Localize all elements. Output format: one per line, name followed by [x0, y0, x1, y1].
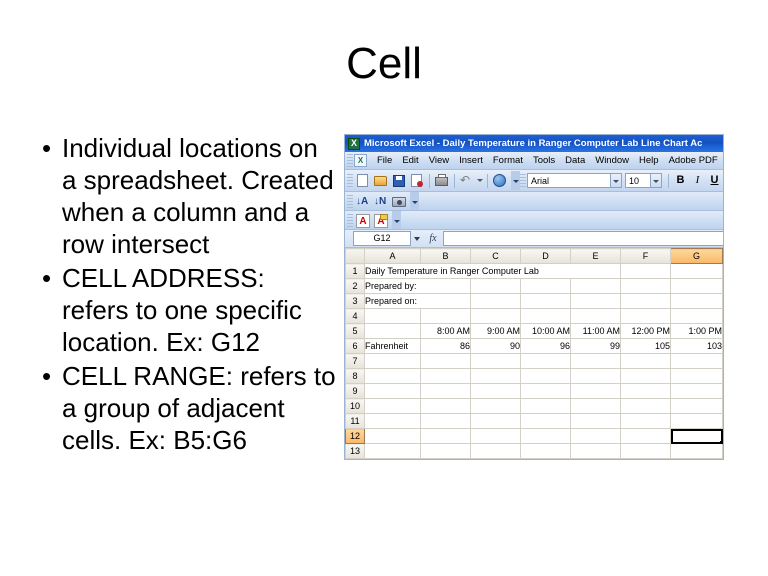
cell-c2[interactable] [471, 279, 521, 294]
menu-item-insert[interactable]: Insert [454, 154, 488, 167]
column-header-g[interactable]: G [671, 249, 723, 264]
cell-f8[interactable] [621, 369, 671, 384]
cell-d2[interactable] [521, 279, 571, 294]
underline-button[interactable]: U [706, 172, 723, 189]
cell-a9[interactable] [365, 384, 421, 399]
column-header-row: A B C D E F G [346, 249, 723, 264]
cell-d6[interactable]: 96 [521, 339, 571, 354]
bullet-list: • Individual locations on a spreadsheet.… [38, 132, 338, 458]
excel-window-screenshot: Microsoft Excel - Daily Temperature in R… [344, 134, 724, 460]
cell-b13[interactable] [421, 444, 471, 459]
undo-dropdown-icon[interactable] [476, 172, 483, 189]
formula-input[interactable] [443, 231, 723, 246]
italic-button[interactable]: I [689, 172, 706, 189]
cell-b8[interactable] [421, 369, 471, 384]
table-row: 1 Daily Temperature in Ranger Computer L… [346, 264, 723, 279]
bullet-marker-icon: • [38, 360, 62, 392]
row-header-14[interactable]: 14 [346, 459, 365, 461]
cell-c8[interactable] [471, 369, 521, 384]
cell-e14[interactable] [571, 459, 621, 461]
cell-a10[interactable] [365, 399, 421, 414]
menu-bar: File Edit View Insert Format Tools Data … [345, 152, 723, 170]
toolbar-grip-handle[interactable] [347, 195, 353, 208]
cell-b5[interactable]: 8:00 AM [421, 324, 471, 339]
table-row: 3 Prepared on: [346, 294, 723, 309]
cell-b6[interactable]: 86 [421, 339, 471, 354]
table-row: 13 [346, 444, 723, 459]
cell-d8[interactable] [521, 369, 571, 384]
cell-c13[interactable] [471, 444, 521, 459]
column-header-f[interactable]: F [621, 249, 671, 264]
name-box-dropdown-icon[interactable] [411, 231, 423, 246]
cell-e7[interactable] [571, 354, 621, 369]
row-header-2[interactable]: 2 [346, 279, 365, 294]
cell-c6[interactable]: 90 [471, 339, 521, 354]
cell-e3[interactable] [571, 294, 621, 309]
cell-a6[interactable]: Fahrenheit [365, 339, 421, 354]
save-icon[interactable] [390, 172, 407, 189]
cell-c10[interactable] [471, 399, 521, 414]
menu-item-file[interactable]: File [372, 154, 397, 167]
row-header-10[interactable]: 10 [346, 399, 365, 414]
cell-a14[interactable] [365, 459, 421, 461]
column-header-a[interactable]: A [365, 249, 421, 264]
cell-d11[interactable] [521, 414, 571, 429]
cell-e8[interactable] [571, 369, 621, 384]
cell-d5[interactable]: 10:00 AM [521, 324, 571, 339]
cell-g10[interactable] [671, 399, 723, 414]
page-title: Cell [0, 40, 768, 88]
table-row: 9 [346, 384, 723, 399]
cell-b10[interactable] [421, 399, 471, 414]
bold-button[interactable]: B [672, 172, 689, 189]
table-row: 12 [346, 429, 723, 444]
cell-f10[interactable] [621, 399, 671, 414]
cell-g8[interactable] [671, 369, 723, 384]
document-control-icon[interactable] [354, 154, 367, 167]
select-all-corner[interactable] [346, 249, 365, 264]
cell-g13[interactable] [671, 444, 723, 459]
cell-g1[interactable] [671, 264, 723, 279]
list-item: • CELL ADDRESS: refers to one specific l… [38, 262, 338, 358]
menu-item-data[interactable]: Data [560, 154, 590, 167]
cell-f12[interactable] [621, 429, 671, 444]
table-row: 11 [346, 414, 723, 429]
help-icon[interactable] [491, 172, 508, 189]
toolbar-grip-handle[interactable] [347, 214, 353, 227]
cell-a1[interactable]: Daily Temperature in Ranger Computer Lab [365, 264, 621, 279]
cell-g12-selected[interactable] [671, 429, 723, 444]
row-header-7[interactable]: 7 [346, 354, 365, 369]
font-size-dropdown-icon[interactable] [651, 173, 662, 188]
cell-b4[interactable] [421, 309, 471, 324]
cell-g11[interactable] [671, 414, 723, 429]
toolbar-overflow-icon[interactable] [410, 192, 419, 211]
cell-e13[interactable] [571, 444, 621, 459]
new-icon[interactable] [354, 172, 371, 189]
menu-item-format[interactable]: Format [488, 154, 528, 167]
bullet-marker-icon: • [38, 132, 62, 164]
cell-g9[interactable] [671, 384, 723, 399]
cell-d12[interactable] [521, 429, 571, 444]
toolbar-separator [429, 174, 430, 188]
row-header-5[interactable]: 5 [346, 324, 365, 339]
cell-b7[interactable] [421, 354, 471, 369]
cell-a5[interactable] [365, 324, 421, 339]
column-header-e[interactable]: E [571, 249, 621, 264]
row-header-9[interactable]: 9 [346, 384, 365, 399]
cell-e12[interactable] [571, 429, 621, 444]
extra-toolbar-row-2 [345, 211, 723, 230]
cell-f11[interactable] [621, 414, 671, 429]
cell-f13[interactable] [621, 444, 671, 459]
list-item: • CELL RANGE: refers to a group of adjac… [38, 360, 338, 456]
cell-g14[interactable] [671, 459, 723, 461]
toolbar-grip-handle[interactable] [520, 174, 526, 187]
convert-to-pdf-icon[interactable] [354, 212, 371, 229]
toolbar-overflow-icon[interactable] [392, 211, 401, 230]
camera-icon[interactable] [390, 193, 407, 210]
menu-item-edit[interactable]: Edit [397, 154, 423, 167]
cell-d13[interactable] [521, 444, 571, 459]
cell-a8[interactable] [365, 369, 421, 384]
table-row: 10 [346, 399, 723, 414]
row-header-4[interactable]: 4 [346, 309, 365, 324]
standard-toolbar: ↶ Arial 10 B I U [345, 170, 723, 192]
cell-d9[interactable] [521, 384, 571, 399]
pdf-and-email-icon[interactable] [372, 212, 389, 229]
cell-e11[interactable] [571, 414, 621, 429]
cell-b14[interactable] [421, 459, 471, 461]
row-header-12[interactable]: 12 [346, 429, 365, 444]
cell-d7[interactable] [521, 354, 571, 369]
table-row: 6 Fahrenheit 86 90 96 99 105 103 [346, 339, 723, 354]
cell-f14[interactable] [621, 459, 671, 461]
cell-a4[interactable] [365, 309, 421, 324]
cell-e2[interactable] [571, 279, 621, 294]
toolbar-separator [454, 174, 455, 188]
cell-c7[interactable] [471, 354, 521, 369]
cell-d4[interactable] [521, 309, 571, 324]
cell-f3[interactable] [621, 294, 671, 309]
font-name-dropdown-icon[interactable] [611, 173, 622, 188]
table-row: 5 8:00 AM 9:00 AM 10:00 AM 11:00 AM 12:0… [346, 324, 723, 339]
table-row: 2 Prepared by: [346, 279, 723, 294]
menu-item-window[interactable]: Window [590, 154, 634, 167]
bullet-text: Individual locations on a spreadsheet. C… [62, 132, 338, 260]
toolbar-separator [668, 174, 669, 188]
cell-a11[interactable] [365, 414, 421, 429]
bullet-text: CELL RANGE: refers to a group of adjacen… [62, 360, 338, 456]
column-header-d[interactable]: D [521, 249, 571, 264]
cell-f4[interactable] [621, 309, 671, 324]
cell-a13[interactable] [365, 444, 421, 459]
window-title: Microsoft Excel - Daily Temperature in R… [364, 138, 702, 149]
extra-toolbar-row-1: ↓A ↓N [345, 192, 723, 211]
undo-icon[interactable]: ↶ [458, 172, 475, 189]
table-row: 4 [346, 309, 723, 324]
cell-f1[interactable] [621, 264, 671, 279]
cell-f6[interactable]: 105 [621, 339, 671, 354]
cell-g7[interactable] [671, 354, 723, 369]
table-row: 7 [346, 354, 723, 369]
list-item: • Individual locations on a spreadsheet.… [38, 132, 338, 260]
cell-e5[interactable]: 11:00 AM [571, 324, 621, 339]
toolbar-grip-handle[interactable] [347, 174, 353, 187]
cell-d3[interactable] [521, 294, 571, 309]
font-size-input[interactable]: 10 [625, 173, 651, 188]
excel-app-icon [348, 138, 360, 150]
worksheet-grid: A B C D E F G 1 Daily Temperature in Ran… [345, 248, 723, 460]
insert-function-icon[interactable]: fx [423, 233, 443, 244]
menu-item-help[interactable]: Help [634, 154, 664, 167]
cell-c11[interactable] [471, 414, 521, 429]
row-header-6[interactable]: 6 [346, 339, 365, 354]
cell-g6[interactable]: 103 [671, 339, 723, 354]
cell-c12[interactable] [471, 429, 521, 444]
cell-c14[interactable] [471, 459, 521, 461]
table-row: 14 [346, 459, 723, 461]
cell-a3[interactable]: Prepared on: [365, 294, 471, 309]
menu-item-adobe-pdf[interactable]: Adobe PDF [664, 154, 723, 167]
print-icon[interactable] [433, 172, 450, 189]
cell-c5[interactable]: 9:00 AM [471, 324, 521, 339]
cell-f9[interactable] [621, 384, 671, 399]
cell-f5[interactable]: 12:00 PM [621, 324, 671, 339]
cell-g2[interactable] [671, 279, 723, 294]
cell-a12[interactable] [365, 429, 421, 444]
cell-g3[interactable] [671, 294, 723, 309]
toolbar-separator [487, 174, 488, 188]
cell-b12[interactable] [421, 429, 471, 444]
cell-c3[interactable] [471, 294, 521, 309]
row-header-13[interactable]: 13 [346, 444, 365, 459]
cell-c9[interactable] [471, 384, 521, 399]
row-header-3[interactable]: 3 [346, 294, 365, 309]
cell-e9[interactable] [571, 384, 621, 399]
row-header-8[interactable]: 8 [346, 369, 365, 384]
sort-descending-icon[interactable]: ↓N [372, 193, 389, 210]
bullet-marker-icon: • [38, 262, 62, 294]
bullet-text: CELL ADDRESS: refers to one specific loc… [62, 262, 338, 358]
menu-item-tools[interactable]: Tools [528, 154, 560, 167]
cell-g5[interactable]: 1:00 PM [671, 324, 723, 339]
cell-b9[interactable] [421, 384, 471, 399]
cell-d10[interactable] [521, 399, 571, 414]
sort-ascending-icon[interactable]: ↓A [354, 193, 371, 210]
cell-d14[interactable] [521, 459, 571, 461]
spreadsheet-table: A B C D E F G 1 Daily Temperature in Ran… [345, 248, 723, 460]
cell-a7[interactable] [365, 354, 421, 369]
font-name-input[interactable]: Arial [527, 173, 611, 188]
name-box[interactable]: G12 [353, 231, 411, 246]
row-header-11[interactable]: 11 [346, 414, 365, 429]
column-header-b[interactable]: B [421, 249, 471, 264]
cell-f2[interactable] [621, 279, 671, 294]
cell-c4[interactable] [471, 309, 521, 324]
column-header-c[interactable]: C [471, 249, 521, 264]
cell-e6[interactable]: 99 [571, 339, 621, 354]
permission-icon[interactable] [408, 172, 425, 189]
menu-item-view[interactable]: View [424, 154, 454, 167]
open-icon[interactable] [372, 172, 389, 189]
cell-g4[interactable] [671, 309, 723, 324]
cell-e4[interactable] [571, 309, 621, 324]
toolbar-overflow-icon[interactable] [511, 171, 520, 190]
formula-bar: G12 fx [345, 230, 723, 248]
cell-b11[interactable] [421, 414, 471, 429]
cell-a2[interactable]: Prepared by: [365, 279, 471, 294]
row-header-1[interactable]: 1 [346, 264, 365, 279]
toolbar-grip-handle[interactable] [347, 154, 353, 167]
excel-title-bar: Microsoft Excel - Daily Temperature in R… [345, 135, 723, 152]
table-row: 8 [346, 369, 723, 384]
cell-e10[interactable] [571, 399, 621, 414]
cell-f7[interactable] [621, 354, 671, 369]
